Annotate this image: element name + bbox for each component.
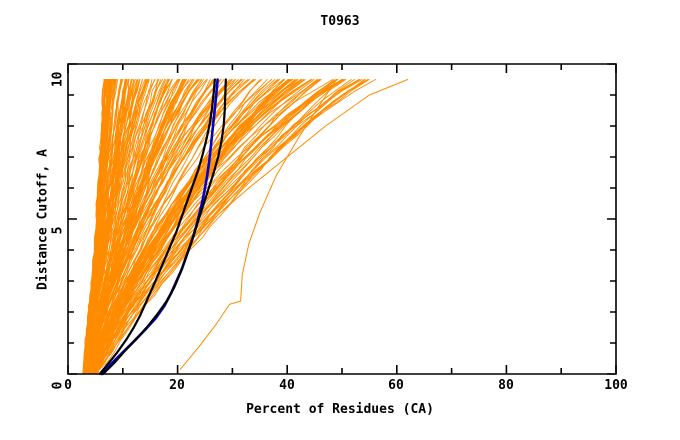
plot-canvas	[0, 0, 680, 440]
plot-figure: T0963 Percent of Residues (CA) Distance …	[0, 0, 680, 440]
